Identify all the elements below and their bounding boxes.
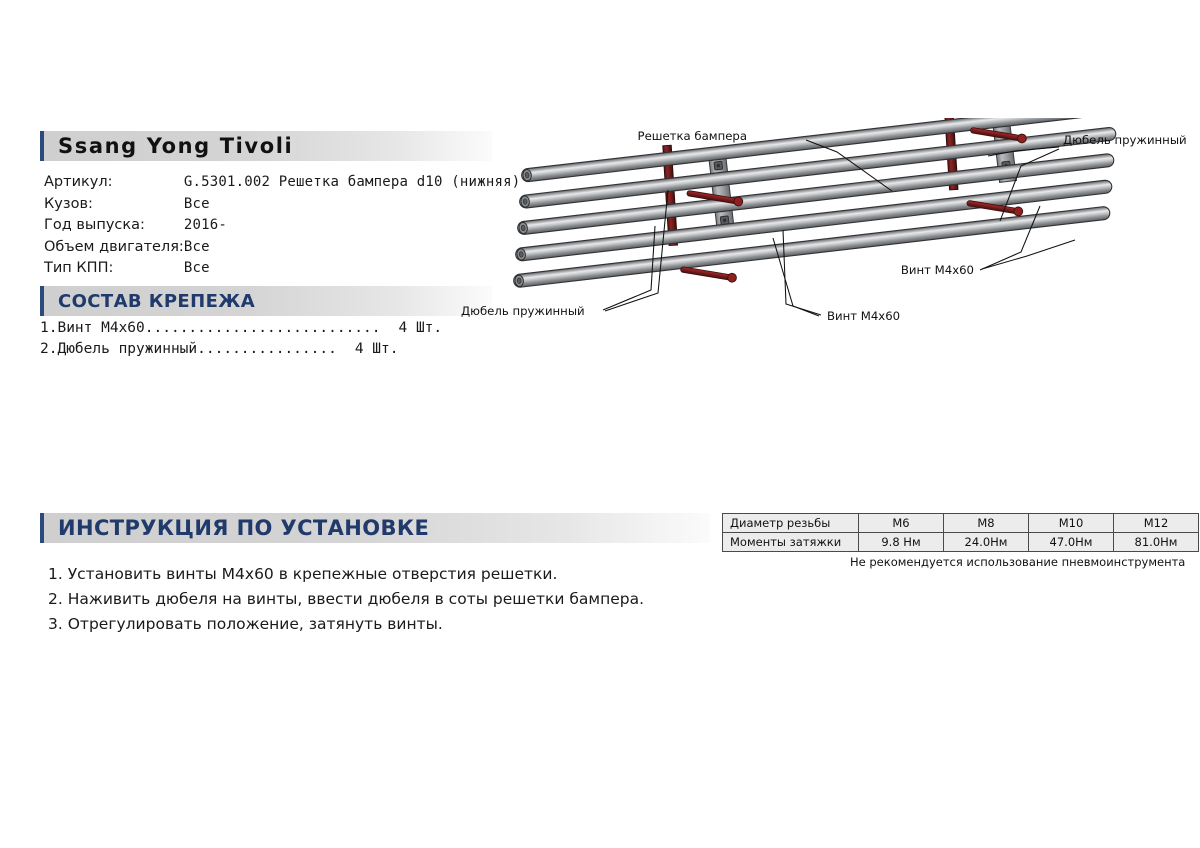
table-row-torque-values: Моменты затяжки 9.8 Нм 24.0Нм 47.0Нм 81.… — [723, 533, 1199, 552]
callout-screw-right: Винт М4х60 — [901, 263, 974, 277]
fastener-number-1: 1. — [40, 318, 57, 339]
instructions-heading-band: ИНСТРУКЦИЯ ПО УСТАНОВКЕ — [40, 513, 710, 543]
torque-value-m12: 81.0Нм — [1114, 533, 1199, 552]
fastener-dots-2: ................ — [197, 339, 337, 360]
torque-thread-m6: M6 — [859, 514, 944, 533]
table-row: Тип КПП: Все — [44, 258, 520, 280]
spec-label-year: Год выпуска: — [44, 215, 184, 237]
callout-dowel-bottom: Дюбель пружинный — [461, 304, 585, 318]
instruction-step-3: 3. Отрегулировать положение, затянуть ви… — [48, 612, 644, 637]
fastener-name-2: Дюбель пружинный — [57, 339, 197, 360]
fastener-qty-1: 4 Шт. — [380, 318, 442, 339]
fastener-number-2: 2. — [40, 339, 57, 360]
fasteners-heading-band: СОСТАВ КРЕПЕЖА — [40, 286, 492, 316]
callout-dowel-top: Дюбель пружинный — [1063, 133, 1187, 147]
page-title: Ssang Yong Tivoli — [44, 134, 293, 158]
torque-value-m10: 47.0Нм — [1029, 533, 1114, 552]
torque-value-m8: 24.0Нм — [944, 533, 1029, 552]
fasteners-band: СОСТАВ КРЕПЕЖА — [44, 286, 492, 316]
table-row-thread-diameter: Диаметр резьбы M6 M8 M10 M12 — [723, 514, 1199, 533]
instructions-band: ИНСТРУКЦИЯ ПО УСТАНОВКЕ — [44, 513, 710, 543]
torque-note: Не рекомендуется использование пневмоинс… — [850, 555, 1185, 569]
fastener-dots-1: ........................... — [145, 318, 381, 339]
torque-row-label-values: Моменты затяжки — [723, 533, 859, 552]
torque-value-m6: 9.8 Нм — [859, 533, 944, 552]
table-row: Артикул: G.5301.002 Решетка бампера d10 … — [44, 172, 520, 194]
instruction-step-1: 1. Установить винты М4х60 в крепежные от… — [48, 562, 644, 587]
screw-left-lower — [680, 265, 737, 283]
spec-label-article: Артикул: — [44, 172, 184, 194]
instructions-heading: ИНСТРУКЦИЯ ПО УСТАНОВКЕ — [44, 516, 429, 540]
title-band: Ssang Yong Tivoli — [44, 131, 492, 161]
callout-screw-bottom: Винт М4х60 — [827, 309, 900, 323]
specification-table: Артикул: G.5301.002 Решетка бампера d10 … — [44, 172, 520, 280]
fasteners-heading: СОСТАВ КРЕПЕЖА — [44, 291, 255, 312]
model-title-band: Ssang Yong Tivoli — [40, 131, 492, 161]
grille-assembly-diagram: Решетка бампера Дюбель пружинный Дюбель … — [455, 118, 1200, 333]
list-item: 1. Винт М4х60 ..........................… — [40, 318, 442, 339]
instruction-step-2: 2. Наживить дюбеля на винты, ввести дюбе… — [48, 587, 644, 612]
table-row: Кузов: Все — [44, 194, 520, 216]
table-row: Объем двигателя: Все — [44, 237, 520, 259]
spec-label-engine: Объем двигателя: — [44, 237, 184, 259]
torque-thread-m12: M12 — [1114, 514, 1199, 533]
list-item: 2. Дюбель пружинный ................ 4 Ш… — [40, 339, 442, 360]
fastener-qty-2: 4 Шт. — [337, 339, 399, 360]
spec-label-gearbox: Тип КПП: — [44, 258, 184, 280]
spec-label-body: Кузов: — [44, 194, 184, 216]
table-row: Год выпуска: 2016- — [44, 215, 520, 237]
torque-specification-table: Диаметр резьбы M6 M8 M10 M12 Моменты зат… — [722, 513, 1199, 552]
fasteners-list: 1. Винт М4х60 ..........................… — [40, 318, 442, 360]
torque-thread-m10: M10 — [1029, 514, 1114, 533]
torque-row-label-diameter: Диаметр резьбы — [723, 514, 859, 533]
instructions-list: 1. Установить винты М4х60 в крепежные от… — [48, 562, 644, 637]
torque-thread-m8: M8 — [944, 514, 1029, 533]
callout-grille-top: Решетка бампера — [638, 129, 747, 143]
fastener-name-1: Винт М4х60 — [57, 318, 144, 339]
